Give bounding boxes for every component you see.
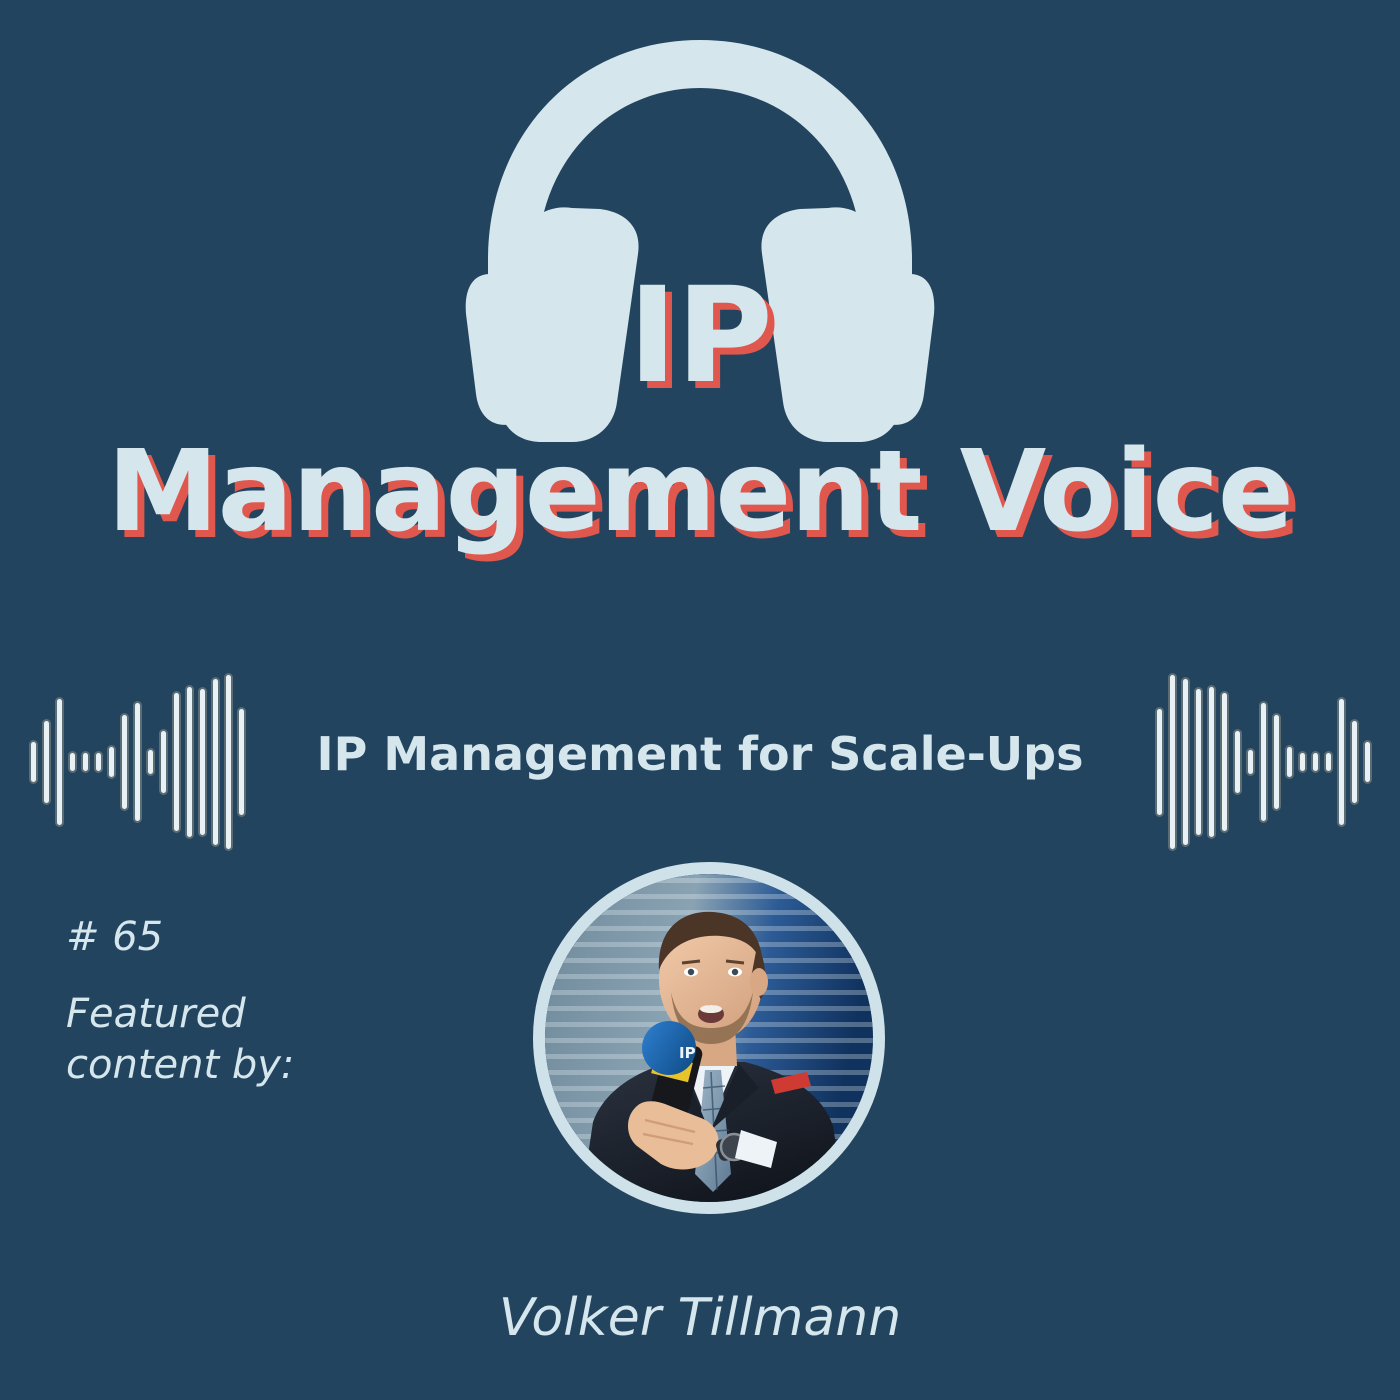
waveform-bar	[1220, 691, 1229, 833]
waveform-bar	[1155, 707, 1164, 817]
waveform-bar	[1337, 697, 1346, 827]
speaker-photo: IP	[545, 874, 873, 1202]
logo-area: IP	[0, 22, 1400, 442]
waveform-bar	[1259, 701, 1268, 823]
featured-label-line1: Featured	[66, 989, 426, 1040]
waveform-bar	[1181, 677, 1190, 847]
featured-label-line2: content by:	[66, 1040, 426, 1091]
audio-waveform-icon-right	[1148, 672, 1378, 852]
episode-number: # 65	[66, 912, 426, 963]
waveform-bar	[1285, 745, 1294, 779]
waveform-bar	[1363, 740, 1372, 784]
speaker-avatar: IP	[533, 862, 885, 1214]
page-title: Management Voice	[0, 430, 1400, 555]
podcast-cover-art: IP Management Voice IP Management for Sc…	[0, 0, 1400, 1400]
avatar-clip: IP	[545, 874, 873, 1202]
waveform-bar	[1350, 719, 1359, 805]
waveform-bar	[1298, 751, 1307, 773]
waveform-bar	[1194, 687, 1203, 837]
episode-info: # 65 Featured content by:	[66, 912, 426, 1092]
speaker-name: Volker Tillmann	[0, 1288, 1400, 1348]
svg-text:IP: IP	[679, 1044, 696, 1062]
waveform-bar	[1272, 713, 1281, 811]
logo-ip-letters: IP	[0, 270, 1400, 402]
waveform-bar	[1233, 729, 1242, 795]
waveform-bar	[1324, 751, 1333, 773]
waveform-bar	[1311, 751, 1320, 773]
waveform-bar	[1168, 673, 1177, 851]
waveform-bar	[1246, 748, 1255, 776]
waveform-bar	[1207, 685, 1216, 839]
